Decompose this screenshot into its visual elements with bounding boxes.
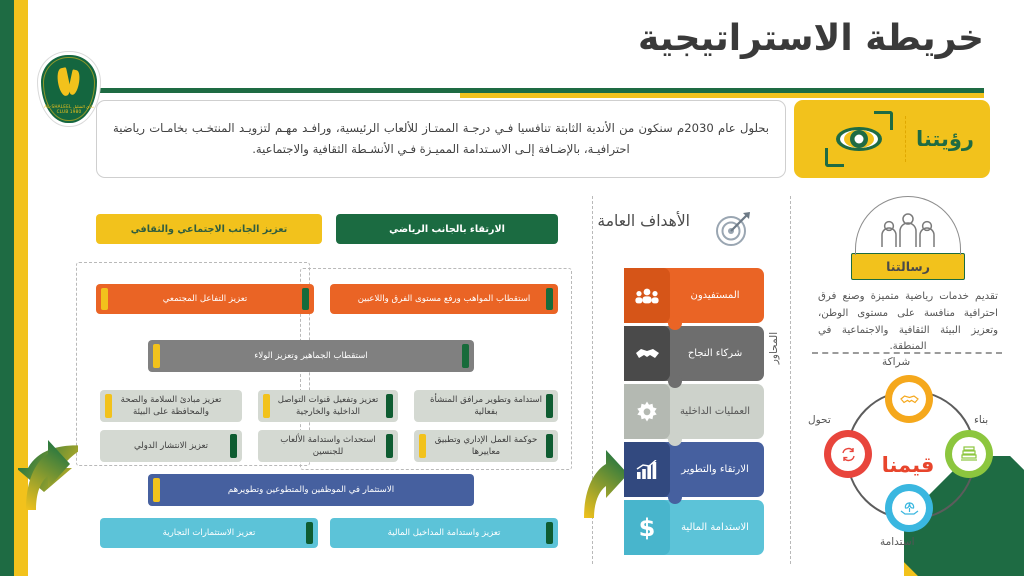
perspectives-column: المستفيدون شركاء النجاح العمليات الداخلي… [624,268,764,558]
page-title: خريطة الاستراتيجية [638,18,984,59]
goal-bar[interactable]: حوكمة العمل الإداري وتطبيق معاييرها [414,430,558,462]
perspective-label: شركاء النجاح [670,348,764,359]
value-node-sustainability[interactable] [885,484,933,532]
perspective-development[interactable]: الارتقاء والتطوير [624,442,764,497]
puzzle-knob [668,432,682,446]
coins-icon [952,437,986,471]
gear-icon [624,384,670,439]
vision-statement-box: بحلول عام 2030م سنكون من الأندية الثابتة… [96,100,786,178]
dollar-icon: $ [624,500,670,555]
vision-label-tag: رؤيتنا [794,100,990,178]
goal-label: تعزيز الاستثمارات التجارية [163,527,256,539]
strategy-map-slide: خريطة الاستراتيجية نادي الشليل AL-SHALEE… [0,0,1024,576]
value-label-building: بناء [974,414,988,426]
left-curved-arrow-icon [18,420,78,520]
perspective-label: الارتقاء والتطوير [670,464,764,475]
goal-label: استقطاب المواهب ورفع مستوى الفرق واللاعب… [358,293,531,305]
value-label-transformation: تحول [808,414,831,426]
handshake-icon [624,326,670,381]
perspective-label: الاستدامة المالية [670,522,764,533]
handshake-icon [892,382,926,416]
goal-label: تعزيز مبادئ السلامة والصحة والمحافظة على… [116,394,226,418]
mission-arc [855,196,961,255]
goal-label: الاستثمار في الموظفين والمتطوعين وتطويره… [228,484,394,496]
perspective-financial-sustainability[interactable]: الاستدامة المالية $ [624,500,764,555]
mission-text: تقديم خدمات رياضية متميزة وصنع فرق احترا… [812,289,1004,356]
goal-label: استدامة وتطوير مرافق المنشأة بفعالية [430,394,542,418]
perspectives-right-divider [790,196,791,564]
goal-label: حوكمة العمل الإداري وتطبيق معاييرها [430,434,542,458]
pillar-sports[interactable]: الارتقاء بالجانب الرياضي [336,214,558,244]
goal-bar[interactable]: استقطاب الجماهير وتعزيز الولاء [148,340,474,372]
vision-text: بحلول عام 2030م سنكون من الأندية الثابتة… [113,118,769,161]
perspective-success-partners[interactable]: شركاء النجاح [624,326,764,381]
values-block: قيمنا شراكة بناء [812,362,1004,568]
goal-bar[interactable]: تعزيز الاستثمارات التجارية [100,518,318,548]
goal-bar[interactable]: تعزيز وتفعيل قنوات التواصل الداخلية والخ… [258,390,398,422]
value-node-building[interactable] [945,430,993,478]
perspective-label: المستفيدون [670,290,764,301]
chart-icon [624,442,670,497]
goal-bar[interactable]: تعزيز التفاعل المجتمعي [96,284,314,314]
goal-bar[interactable]: تعزيز واستدامة المداخيل المالية [330,518,558,548]
vision-divider [905,116,906,162]
eye-icon [823,111,895,167]
general-goals-label: الأهداف العامة [597,212,690,230]
puzzle-knob [668,316,682,330]
value-node-transformation[interactable] [824,430,872,478]
goal-label: تعزيز واستدامة المداخيل المالية [388,527,501,539]
goal-bar[interactable]: تعزيز الانتشار الدولي [100,430,242,462]
goal-bar[interactable]: استدامة وتطوير مرافق المنشأة بفعالية [414,390,558,422]
puzzle-knob [668,490,682,504]
goal-label: تعزيز وتفعيل قنوات التواصل الداخلية والخ… [274,394,382,418]
perspectives-axis-label: المحاور [768,318,780,378]
values-center-label: قيمنا [882,453,935,477]
logo-text: نادي الشليل AL-SHALEEL CLUB 1980 [38,104,100,115]
hands-plant-icon [892,491,926,525]
goal-bar[interactable]: استحداث واستدامة الألعاب للجنسين [258,430,398,462]
value-label-sustainability: استدامة [880,536,915,548]
goal-bar[interactable]: الاستثمار في الموظفين والمتطوعين وتطويره… [148,474,474,506]
goal-bar[interactable]: تعزيز مبادئ السلامة والصحة والمحافظة على… [100,390,242,422]
perspective-internal-operations[interactable]: العمليات الداخلية [624,384,764,439]
goal-label: تعزيز الانتشار الدولي [134,440,208,452]
team-icon [877,211,939,255]
users-icon [624,268,670,323]
puzzle-knob [668,374,682,388]
header-yellow-rule [460,93,984,98]
value-node-partnership[interactable] [885,375,933,423]
perspective-label: العمليات الداخلية [670,406,764,417]
club-logo: نادي الشليل AL-SHALEEL CLUB 1980 [38,52,100,126]
mission-block: رسالتنا تقديم خدمات رياضية متميزة وصنع ف… [812,196,1004,356]
refresh-icon [831,437,865,471]
value-label-partnership: شراكة [882,356,910,368]
goal-label: تعزيز التفاعل المجتمعي [163,293,247,305]
mission-label: رسالتنا [851,253,965,280]
vision-label: رؤيتنا [916,127,974,151]
left-green-stripe [0,0,14,576]
target-icon [712,208,754,250]
perspective-beneficiaries[interactable]: المستفيدون [624,268,764,323]
goal-label: استحداث واستدامة الألعاب للجنسين [274,434,382,458]
goal-label: استقطاب الجماهير وتعزيز الولاء [254,350,367,362]
goal-bar[interactable]: استقطاب المواهب ورفع مستوى الفرق واللاعب… [330,284,558,314]
pillar-social-cultural[interactable]: تعزيز الجانب الاجتماعي والثقافي [96,214,322,244]
